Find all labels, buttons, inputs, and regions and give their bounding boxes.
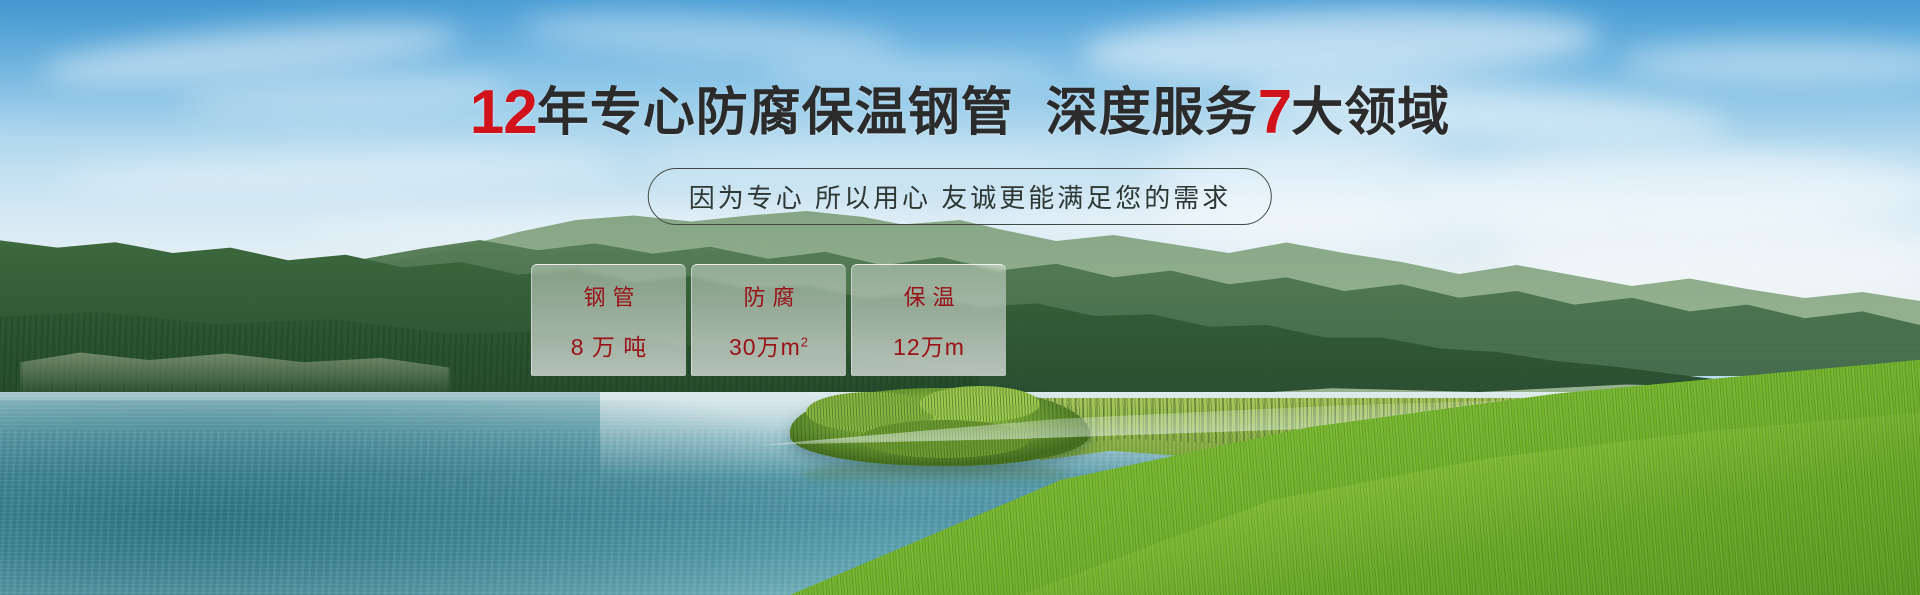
stat-card-value: 12万m <box>893 328 965 362</box>
stat-card-value-superscript: 2 <box>801 334 809 349</box>
banner-subtitle-pill: 因为专心 所以用心 友诚更能满足您的需求 <box>648 168 1272 225</box>
stat-card-value-text: 8 万 吨 <box>571 334 648 360</box>
stat-card-value-text: 30万m <box>729 334 801 360</box>
stat-card-anticorrosion[interactable]: 防腐 30万m2 <box>691 264 846 376</box>
stat-card-label: 钢管 <box>576 280 641 312</box>
headline-service-prefix: 深度服务 <box>1046 84 1258 142</box>
cloud-wisp <box>760 58 1060 84</box>
stat-card-value: 30万m2 <box>729 328 809 362</box>
stat-card-value-text: 12万m <box>893 334 965 360</box>
stat-card-label: 保温 <box>896 280 961 312</box>
headline-fields-number: 7 <box>1258 78 1291 147</box>
headline-fields-suffix: 大领域 <box>1291 84 1450 142</box>
hero-banner: 12年专心防腐保温钢管深度服务7大领域 因为专心 所以用心 友诚更能满足您的需求… <box>0 0 1920 595</box>
stat-card-steel-pipe[interactable]: 钢管 8 万 吨 <box>531 264 686 376</box>
banner-headline: 12年专心防腐保温钢管深度服务7大领域 <box>0 82 1920 144</box>
island-tuft <box>920 386 1040 422</box>
stat-card-insulation[interactable]: 保温 12万m <box>851 264 1006 376</box>
headline-years-number: 12 <box>470 78 537 147</box>
stat-card-label: 防腐 <box>736 280 801 312</box>
headline-years-suffix: 年专心防腐保温钢管 <box>537 84 1014 142</box>
stat-card-value: 8 万 吨 <box>571 328 648 362</box>
stat-card-group: 钢管 8 万 吨 防腐 30万m2 保温 12万m <box>531 264 1006 376</box>
